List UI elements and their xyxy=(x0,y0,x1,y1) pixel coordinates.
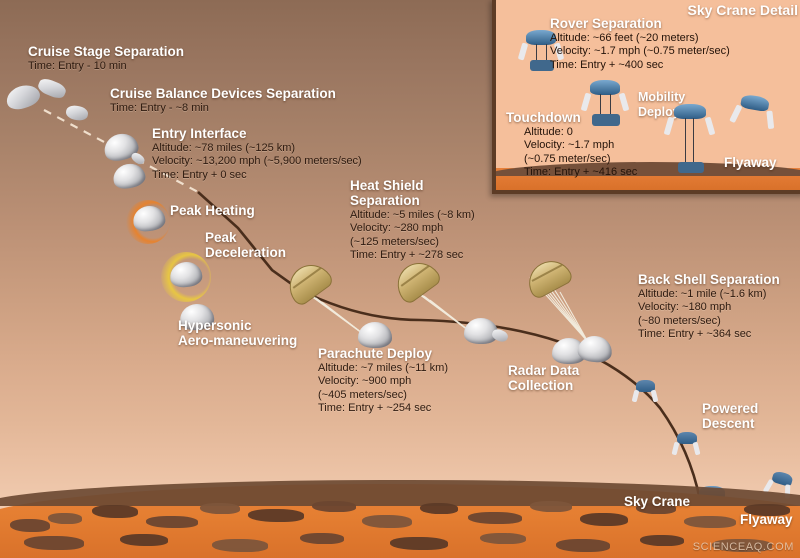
label-cruise-balance-devices-separation: Cruise Balance Devices Separation Time: … xyxy=(110,86,336,115)
craft-peak-deceleration xyxy=(169,260,203,288)
heading-peak-deceleration: Peak Deceleration xyxy=(205,230,286,260)
craft-peak-heating xyxy=(131,204,166,233)
heading-powered-descent: Powered Descent xyxy=(702,401,758,431)
label-cruise-stage-separation: Cruise Stage Separation Time: Entry - 10… xyxy=(28,44,184,73)
details-rover-separation: Altitude: ~66 feet (~20 meters) Velocity… xyxy=(550,32,730,72)
label-flyaway-inset: Flyaway xyxy=(724,155,777,170)
heading-cruise-stage-separation: Cruise Stage Separation xyxy=(28,44,184,59)
label-parachute-deploy: Parachute Deploy Altitude: ~7 miles (~11… xyxy=(318,346,448,416)
heading-touchdown: Touchdown xyxy=(506,110,637,125)
label-touchdown: Touchdown Altitude: 0 Velocity: ~1.7 mph… xyxy=(506,110,637,180)
mars-edl-diagram: Cruise Stage Separation Time: Entry - 10… xyxy=(0,0,800,558)
label-flyaway: Flyaway xyxy=(740,512,793,527)
heading-heat-shield-separation: Heat Shield Separation xyxy=(350,178,475,208)
heading-hypersonic-aero-maneuvering: Hypersonic Aero-maneuvering xyxy=(178,318,297,348)
mars-terrain xyxy=(0,472,800,558)
craft-powered-descent xyxy=(668,430,704,458)
craft-back-shell xyxy=(577,334,614,363)
craft-descent-stage-1 xyxy=(628,378,662,404)
details-touchdown: Altitude: 0 Velocity: ~1.7 mph (~0.75 me… xyxy=(524,126,637,180)
heading-radar-data-collection: Radar Data Collection xyxy=(508,363,579,393)
label-entry-interface: Entry Interface Altitude: ~78 miles (~12… xyxy=(152,126,362,182)
details-heat-shield-separation: Altitude: ~5 miles (~8 km) Velocity: ~28… xyxy=(350,209,475,263)
label-powered-descent: Powered Descent xyxy=(702,401,758,431)
label-rover-separation: Rover Separation Altitude: ~66 feet (~20… xyxy=(550,16,730,72)
label-hypersonic-aero-maneuvering: Hypersonic Aero-maneuvering xyxy=(178,318,297,348)
heading-flyaway: Flyaway xyxy=(740,512,793,527)
details-parachute-deploy: Altitude: ~7 miles (~11 km) Velocity: ~9… xyxy=(318,362,448,416)
heading-back-shell-separation: Back Shell Separation xyxy=(638,272,780,287)
heading-peak-heating: Peak Heating xyxy=(170,203,255,218)
sky-crane-detail-panel: Sky Crane Detail Rover Separation Altitu… xyxy=(492,0,800,194)
parachute-assembly-3 xyxy=(516,262,626,348)
heading-parachute-deploy: Parachute Deploy xyxy=(318,346,448,361)
heading-rover-separation: Rover Separation xyxy=(550,16,730,31)
label-heat-shield-separation: Heat Shield Separation Altitude: ~5 mile… xyxy=(350,178,475,263)
craft-flyaway-inset xyxy=(724,92,784,148)
heading-flyaway-inset: Flyaway xyxy=(724,155,777,170)
label-peak-deceleration: Peak Deceleration xyxy=(205,230,286,260)
label-peak-heating: Peak Heating xyxy=(170,203,255,218)
details-entry-interface: Altitude: ~78 miles (~125 km) Velocity: … xyxy=(152,142,362,182)
heading-sky-crane: Sky Crane xyxy=(624,494,690,509)
watermark: SCIENCEAQ.COM xyxy=(693,541,794,553)
label-sky-crane: Sky Crane xyxy=(624,494,690,509)
details-cruise-balance-devices-separation: Time: Entry - ~8 min xyxy=(110,102,336,115)
details-back-shell-separation: Altitude: ~1 mile (~1.6 km) Velocity: ~1… xyxy=(638,288,780,342)
label-radar-data-collection: Radar Data Collection xyxy=(508,363,579,393)
heading-entry-interface: Entry Interface xyxy=(152,126,362,141)
label-back-shell-separation: Back Shell Separation Altitude: ~1 mile … xyxy=(638,272,780,342)
heading-cruise-balance-devices-separation: Cruise Balance Devices Separation xyxy=(110,86,336,101)
craft-touchdown xyxy=(662,104,718,176)
details-cruise-stage-separation: Time: Entry - 10 min xyxy=(28,60,184,73)
